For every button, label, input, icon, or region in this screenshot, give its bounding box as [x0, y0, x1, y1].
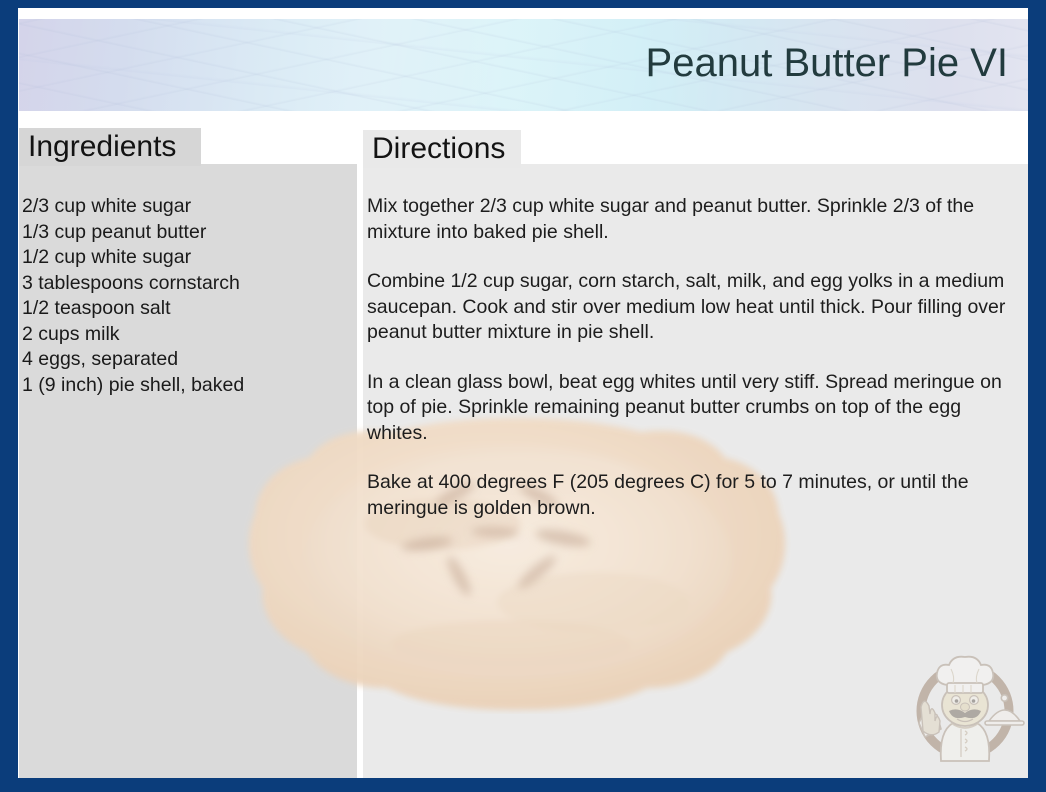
page-title: Peanut Butter Pie VI — [646, 41, 1008, 86]
list-item: 1/3 cup peanut butter — [22, 220, 352, 246]
directions-heading-label: Directions — [372, 134, 505, 164]
recipe-card: Peanut Butter Pie VI — [0, 0, 1046, 792]
list-item: 4 eggs, separated — [22, 347, 352, 373]
directions-heading-tab: Directions — [363, 130, 521, 168]
direction-step: Combine 1/2 cup sugar, corn starch, salt… — [367, 269, 1015, 346]
list-item: 1 (9 inch) pie shell, baked — [22, 373, 352, 399]
ingredients-list: 2/3 cup white sugar 1/3 cup peanut butte… — [22, 194, 352, 398]
directions-body: Mix together 2/3 cup white sugar and pea… — [367, 194, 1015, 545]
direction-step: Mix together 2/3 cup white sugar and pea… — [367, 194, 1015, 245]
direction-step: In a clean glass bowl, beat egg whites u… — [367, 370, 1015, 447]
direction-step: Bake at 400 degrees F (205 degrees C) fo… — [367, 470, 1015, 521]
list-item: 2/3 cup white sugar — [22, 194, 352, 220]
list-item: 2 cups milk — [22, 322, 352, 348]
list-item: 3 tablespoons cornstarch — [22, 271, 352, 297]
list-item: 1/2 cup white sugar — [22, 245, 352, 271]
ingredients-heading-tab: Ingredients — [19, 128, 201, 166]
ingredients-heading-label: Ingredients — [28, 132, 176, 162]
list-item: 1/2 teaspoon salt — [22, 296, 352, 322]
header-banner: Peanut Butter Pie VI — [19, 19, 1028, 111]
